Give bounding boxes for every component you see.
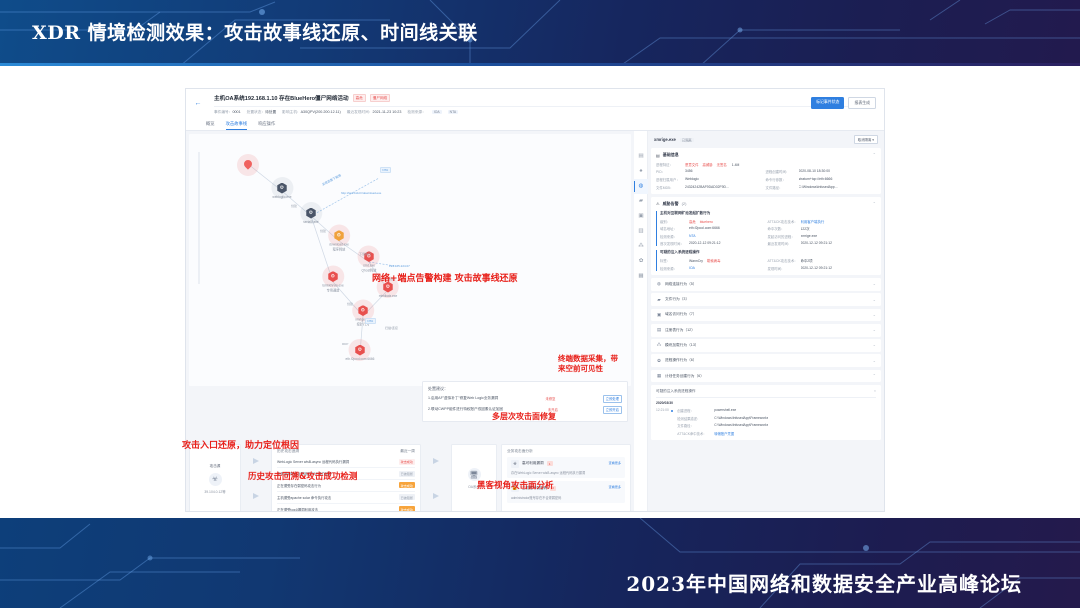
chevron-down-icon[interactable]: ⌄ [873,342,876,347]
timeline-detail-panel: 可疑的注入系统进程操作 × 2020/03/30 12:21:00 创建进程： … [651,385,881,440]
process-status-tag: 已隔离 [680,138,694,143]
field-label: 域名地址： [660,226,686,231]
source-chip-nta: NTA [448,110,459,115]
attack-source-label: 攻击源 [210,464,221,469]
accordion-label: 模块加载行为（13） [665,343,699,348]
process-feature-tags: 恶意文件 高威胁 无签名 1.4M [685,162,763,167]
field-value: eth.f2pool.com:6666 [689,226,765,231]
workspace: ⚙ webloglic.exe ⚙ serial0.exe ⚙ download… [186,131,884,513]
severity-tag: 高危 [353,94,366,102]
node-sublabel: 程序释放 [329,246,349,251]
calendar-icon: ▦ [656,373,662,379]
suggestion-action-button[interactable]: 立即开启 [603,406,622,414]
threat-item-name: 可疑的注入系统进程操作 [660,250,876,255]
field-label: ATT&CK攻击技术： [768,258,798,263]
field-value: 高危 bluehero [689,219,765,224]
process-header-bar: xmrige.exe 已隔离 取消隔离 ▾ [651,131,881,149]
graph-node-serial[interactable]: ⚙ serial0.exe [303,208,318,224]
edge-label: 创建 [347,302,353,306]
rail-network-globe-icon[interactable]: ◍ [634,179,648,194]
accordion-module-behavior[interactable]: ⁂ 模块加载行为（13） ⌄ [651,339,881,352]
rail-alert-bell-icon[interactable]: ♠ [634,164,648,179]
field-value: WannCry 勒索病毒 [689,258,765,263]
annotation-hacker-view: 黑客视角攻击面分析 [477,479,554,491]
field-label: ATT&CK攻击技术： [768,219,798,224]
rail-registry-icon[interactable]: ▣ [634,209,648,224]
slide-footer: 2023年中国网络和数据安全产业高峰论坛 [0,518,1080,608]
field-value: 2020-12-12 09:21:12 [801,241,877,246]
rail-overview-icon[interactable]: ▤ [634,149,648,164]
list-item[interactable]: ☣ 高可利用漏洞 1 存在WebLogic Server wlsB-async … [507,457,625,478]
threat-count: (2) [682,201,687,206]
annotation-endpoint-telemetry: 终端数据采集，带来空前可见性 [558,354,624,374]
accordion-label: 注册表行为（12） [665,328,695,333]
timeline-fields: 创建进程： powershell.exe 检测结果描述： C:\Windows\… [677,408,768,435]
node-label: eth.f2pool.com:6666 [346,357,375,361]
meta-source: 检测来源： [407,110,425,115]
field-value: Weblogic [685,177,763,182]
icon-rail: ▤ ♠ ◍ ▰ ▣ ▥ ⁂ ✿ ▦ [634,131,648,513]
field-value: C:\Windows\InfusedApp... [799,185,877,190]
graph-node-weblogic[interactable]: ⚙ webloglic.exe [272,183,291,199]
suggestion-row: 1.启用AF"虚拟补丁"修复Web Logic业务漏洞 未修复 立即处理 [428,395,622,403]
tab-attack-storyline[interactable]: 攻击故事线 [226,117,247,130]
info-icon: ▤ [656,153,660,158]
accordion-label: 文件行为（3） [665,297,689,302]
field-value: 24324242BAF9DAD02F9D... [685,185,763,190]
table-row[interactable]: WebLogic Server wlsB-async 远程代码执行漏洞 攻击成功 [277,457,415,469]
graph-node-download[interactable]: ⚙ download.exe 程序释放 [329,230,349,251]
rail-file-folder-icon[interactable]: ▰ [634,194,648,209]
edge-label: RDP [342,342,348,346]
accordion-process-behavior[interactable]: ✿ 进程操作行为（6） ⌄ [651,354,881,367]
source-chip-ioa: IOA [432,110,442,115]
history-name: 正在遭受存在弱密码攻击行为 [277,483,321,488]
field-label: 创建进程： [677,408,711,413]
graph-node-lsm[interactable]: ⚙ lsmbkhrvm.exe 专用通道 [322,271,343,292]
field-value: C:\Windows\InfusedApp\Frameworks [714,423,768,428]
surface-item-name: 高可利用漏洞 [522,461,544,466]
field-value: 2020-12-12 09:21:12 [689,241,765,246]
attack-technique-link[interactable]: 转储账户凭据 [714,431,768,436]
chevron-down-icon[interactable]: ⌄ [873,281,876,286]
footer-title: 2023年中国网络和数据安全产业高峰论坛 [626,568,1022,597]
view-more-link[interactable]: 查看更多 [609,460,621,465]
history-range[interactable]: 最近一周 [400,449,415,454]
field-label: 检测结果描述： [677,416,711,421]
accordion-label: 域名访问行为（7） [665,312,697,317]
field-label: 发现时间： [768,266,798,271]
surface-item-title: ☣ 高可利用漏洞 1 [511,460,621,468]
annotation-storyline: 网络+端点告警构建 攻击故事线还原 [372,271,518,284]
graph-node-entry[interactable] [244,160,252,168]
suggestion-title: 处置建议： [428,386,622,392]
accordion-label: 网络连接行为（5） [665,282,697,287]
threat-title: 威胁告警 [663,201,679,207]
accordion-label: 计划任务创建行为（6） [665,374,704,379]
slide-body: ← 主机OA系统192.168.1.10 存在BlueHero僵尸网络活动 高危… [0,66,1080,518]
nta-badge: NTA [380,167,391,174]
page-title: XDR 情境检测效果：攻击故事线还原、时间线关联 [32,18,478,45]
timeline-time: 12:21:00 [656,408,673,435]
attack-source-card: 攻击源 ☣ 39.104.0.12等 [189,444,241,513]
field-label: 发起访问的进程： [768,234,798,239]
edge-label: 创建 [320,229,326,233]
basic-info-title: 基础信息 [663,152,679,158]
field-value: 122次 [801,226,877,231]
basic-info-grid: 进程特征： 恶意文件 高威胁 无签名 1.4M PID： 3456 进程创建时间… [656,162,876,190]
threat-alert-panel: ⚠ 威胁告警 (2) ⌃ 主机对互联网矿池发起扩散行为 级别： 高危 [651,197,881,275]
surface-item-desc: administrator账号存在不合规弱密码 [511,495,621,500]
threat-item-grid: 级别： 高危 bluehero ATT&CK攻击技术： 利用客户端执行 域名地址… [660,219,876,247]
mark-event-status-button[interactable]: 标记事件状态 [811,97,844,109]
tab-response-actions[interactable]: 响应操作 [258,117,275,130]
accordion-domain-behavior[interactable]: ▣ 域名访问行为（7） ⌄ [651,309,881,322]
alert-header-bar: ← 主机OA系统192.168.1.10 存在BlueHero僵尸网络活动 高危… [186,89,884,118]
file-icon: ▰ [656,297,662,303]
surface-title: 业务攻击面分析 [507,449,533,454]
field-value: 3456 [685,169,763,174]
chevron-up-icon[interactable]: ⌃ [873,152,876,157]
node-label: mimikatz.exe [379,294,398,298]
timeline-date: 2020/03/30 [656,401,876,405]
threat-item-grid: 标签： WannCry 勒索病毒 ATT&CK攻击技术： 命中2项 检测来源： … [660,258,876,271]
gear-icon: ✿ [656,358,662,364]
field-label: 文件MD5： [656,185,682,190]
registry-icon: ▤ [656,327,662,333]
edge-label: 扫描/连接 [385,326,398,330]
field-label: 标签： [660,258,686,263]
rail-task-icon[interactable]: ▦ [634,269,648,284]
status-badge: 已被阻断 [399,471,415,477]
field-value: 2020-08-10 18:30:00 [799,169,877,174]
meta-time: 最近发现时间：2021-11-23 10:23 [347,110,402,115]
flow-arrows-right [425,444,447,513]
alert-meta-row: 事件编号：0001 处置状态：待处置 影响主机：A30QPV(200.200.1… [214,106,876,115]
asset-card: 🖥 OA系统 [451,444,497,513]
surface-item-count: 1 [547,461,553,466]
tab-overview[interactable]: 概览 [206,117,215,130]
bug-icon: ☣ [209,473,222,486]
module-icon: ⁂ [656,342,662,348]
threat-header: ⚠ 威胁告警 (2) [656,201,876,207]
tab-bar: 概览 攻击故事线 响应操作 [186,118,884,131]
process-name: xmrige.exe [654,137,676,142]
field-label: 进程特征： [656,162,682,167]
status-badge: 攻击成功 [399,506,415,512]
right-content-column: xmrige.exe 已隔离 取消隔离 ▾ ▤ 基础信息 ⌃ [648,131,884,513]
accordion-network-behavior[interactable]: ◍ 网络连接行为（5） ⌄ [651,278,881,291]
field-value: IOA [689,266,765,271]
status-badge: 攻击成功 [399,482,415,488]
field-value: stratum+tcp://eth:6666 [799,177,877,182]
timeline-entry: 12:21:00 创建进程： powershell.exe 检测结果描述： C:… [656,408,876,435]
meta-id: 事件编号：0001 [214,110,241,115]
accordion-registry-behavior[interactable]: ▤ 注册表行为（12） ⌄ [651,324,881,337]
warning-icon: ⚠ [656,201,660,206]
field-label: 首次发现时间： [660,241,686,246]
basic-info-header: ▤ 基础信息 [656,152,876,158]
field-value: powershell.exe [714,408,768,413]
field-label: 文件路径： [677,423,711,428]
chevron-down-icon[interactable]: ⌄ [873,297,876,302]
domain-icon: ▣ [656,312,662,318]
meta-status: 处置状态：待处置 [247,110,277,115]
alert-title: 主机OA系统192.168.1.10 存在BlueHero僵尸网络活动 [214,94,349,102]
table-row[interactable]: 正在遭受log4j漏洞利用攻击 攻击成功 [277,504,415,512]
history-name: 正在遭受log4j漏洞利用攻击 [277,507,318,512]
annotation-entry-restore: 攻击入口还原，助力定位根因 [182,438,299,451]
generate-report-button[interactable]: 报表生成 [848,97,876,109]
suggestion-action-button[interactable]: 立即处理 [603,395,622,403]
field-label: 检测来源： [660,234,686,239]
field-label: PID： [656,169,682,174]
left-pane: ⚙ webloglic.exe ⚙ serial0.exe ⚙ download… [186,131,634,513]
header-buttons: 标记事件状态 报表生成 [811,97,876,109]
bug-icon: ☣ [511,460,519,468]
accordion-file-behavior[interactable]: ▰ 文件行为（3） ⌄ [651,293,881,306]
field-value: xmrige.exe [801,234,877,239]
history-name: 主机遭受apache solar 命令执行攻击 [277,495,331,500]
right-pane: ▤ ♠ ◍ ▰ ▣ ▥ ⁂ ✿ ▦ xmrige.exe 已隔离 [634,131,884,513]
slide-header: XDR 情境检测效果：攻击故事线还原、时间线关联 [0,0,1080,66]
edge-label: 下载执行 [359,252,371,256]
isolate-action-select[interactable]: 取消隔离 ▾ [854,135,878,145]
view-more-link[interactable]: 查看更多 [609,484,621,489]
graph-node-pool[interactable]: ⚙ eth.f2pool.com:6666 [346,345,375,361]
basic-info-panel: ▤ 基础信息 ⌃ 进程特征： 恶意文件 高威胁 无签名 1.4M [651,148,881,193]
meta-host: 影响主机：A30QPV(200.200.12.11) [282,110,341,115]
arrow-right-icon [253,493,259,499]
nta-badge: NTA [365,318,376,325]
chevron-up-icon[interactable]: ⌃ [873,373,876,378]
chevron-down-icon[interactable]: ⌄ [873,327,876,332]
annotation-multilayer-remediation: 多层次攻击面修复 [492,411,556,422]
threat-item-name: 主机对互联网矿池发起扩散行为 [660,211,876,216]
accordion-label: 进程操作行为（6） [665,358,697,363]
chevron-down-icon[interactable]: ⌄ [873,312,876,317]
status-badge: 已被阻断 [399,494,415,500]
back-arrow-icon[interactable]: ← [194,100,202,108]
status-badge: 攻击成功 [399,459,415,465]
arrow-right-icon [433,458,439,464]
node-sublabel: 专用通道 [322,287,343,292]
node-label: webloglic.exe [272,195,291,199]
timeline-dot [671,410,673,412]
surface-header: 业务攻击面分析 [507,449,625,454]
rail-module-icon[interactable]: ▥ [634,224,648,239]
threat-item: 可疑的注入系统进程操作 标签： WannCry 勒索病毒 ATT&CK攻击技术：… [656,250,876,271]
suggestion-text: 1.启用AF"虚拟补丁"修复Web Logic业务漏洞 [428,396,498,401]
field-label: 进程归属用户： [656,177,682,182]
threat-item: 主机对互联网矿池发起扩散行为 级别： 高危 bluehero ATT&CK攻击技… [656,211,876,247]
attack-source-ip: 39.104.0.12等 [204,489,225,494]
field-value: 2020-12-12 09:21:12 [801,266,877,271]
field-value: 命中2项 [801,258,877,263]
alert-title-row: 主机OA系统192.168.1.10 存在BlueHero僵尸网络活动 高危 僵… [214,94,876,102]
field-label: 级别： [660,219,686,224]
network-icon: ◍ [656,281,662,287]
timeline-header: 可疑的注入系统进程操作 × [656,389,876,398]
node-label: serial0.exe [303,220,318,224]
field-value: NTA [689,234,765,239]
arrow-right-icon [253,458,259,464]
field-label: ATT&CK命中技术： [677,431,711,436]
field-value[interactable]: 利用客户端执行 [801,219,877,224]
field-label: 文件路径： [766,185,796,190]
history-name: WebLogic Server wlsB-async 远程代码执行漏洞 [277,459,349,464]
field-label: 最近发现时间： [768,241,798,246]
edge-label: 创建 [291,204,297,208]
attack-graph-canvas[interactable]: ⚙ webloglic.exe ⚙ serial0.exe ⚙ download… [189,134,631,386]
field-label: 命中次数： [768,226,798,231]
field-label: 命令行参数： [766,177,796,182]
category-tag: 僵尸网络 [370,94,390,102]
chevron-up-icon[interactable]: ⌃ [873,201,876,206]
process-identity: xmrige.exe 已隔离 [654,137,694,142]
rail-process-tree-icon[interactable]: ⁂ [634,239,648,254]
attack-surface-card: 业务攻击面分析 ☣ 高可利用漏洞 1 存在WebLogic Server wls… [501,444,631,513]
blue-ip-label: 194.165.224.07 [389,264,410,268]
rail-settings-gear-icon[interactable]: ✿ [634,254,648,269]
table-row[interactable]: 主机遭受apache solar 命令执行攻击 已被阻断 [277,492,415,504]
field-label: 进程创建时间： [766,169,796,174]
field-value: C:\Windows\InfusedApp\Frameworks [714,416,768,421]
accordion-scheduled-task-behavior[interactable]: ▦ 计划任务创建行为（6） ⌃ [651,370,881,383]
suggestion-state: 未修复 [546,396,556,401]
surface-item-desc: 存在WebLogic Server wlsB-async 远程代码执行漏洞 [511,470,621,475]
blue-url-label: http://wra.bckl.lr/download.exe [341,191,381,195]
field-label: 检测来源： [660,266,686,271]
close-icon[interactable]: × [874,389,876,393]
chevron-down-icon[interactable]: ⌄ [873,358,876,363]
arrow-right-icon [433,493,439,499]
annotation-history-detection: 历史攻击回溯&攻击成功检测 [248,470,357,482]
timeline-title: 可疑的注入系统进程操作 [656,389,696,393]
